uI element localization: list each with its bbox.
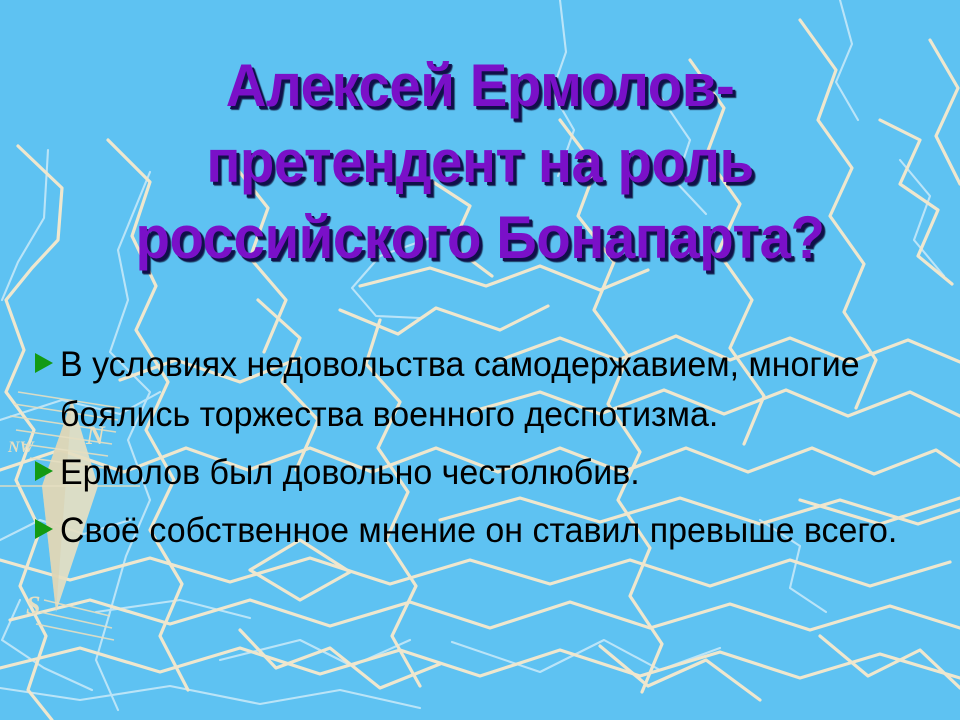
bullet-triangle-icon — [34, 448, 60, 482]
list-item: В условиях недовольства самодержавием, м… — [34, 340, 934, 440]
compass-label-s: S — [26, 591, 40, 620]
bullet-text-3: Своё собственное мнение он ставил превыш… — [60, 506, 908, 556]
slide-title: Алексей Ермолов- претендент на роль росс… — [0, 48, 960, 276]
bullet-text-1: В условиях недовольства самодержавием, м… — [60, 340, 908, 440]
presentation-slide: N NW S Алексей Ермолов- претендент на ро… — [0, 0, 960, 720]
bullet-triangle-icon — [34, 340, 60, 374]
title-line-2: претендент на роль — [29, 124, 931, 200]
bullet-text-2: Ермолов был довольно честолюбив. — [60, 448, 908, 498]
bullet-triangle-icon — [34, 506, 60, 540]
title-line-1: Алексей Ермолов- — [29, 48, 931, 124]
compass-label-nw: NW — [7, 439, 36, 456]
title-line-3: российского Бонапарта? — [29, 200, 931, 276]
slide-body-bullet-list: В условиях недовольства самодержавием, м… — [34, 340, 934, 564]
list-item: Ермолов был довольно честолюбив. — [34, 448, 934, 498]
list-item: Своё собственное мнение он ставил превыш… — [34, 506, 934, 556]
